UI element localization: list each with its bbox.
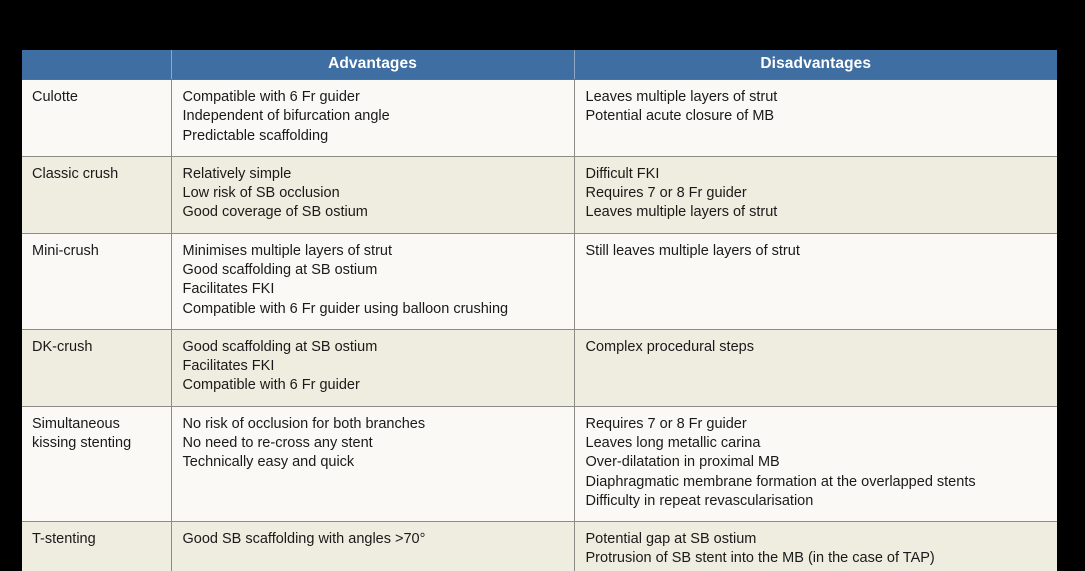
comparison-table-container: Advantages Disadvantages CulotteCompatib… (22, 50, 1057, 571)
disadvantage-item: Diaphragmatic membrane formation at the … (586, 473, 1048, 492)
advantage-item: Independent of bifurcation angle (183, 107, 564, 126)
advantages-list: Relatively simpleLow risk of SB occlusio… (183, 165, 564, 223)
advantages-list: Compatible with 6 Fr guiderIndependent o… (183, 88, 564, 146)
page-root: Advantages Disadvantages CulotteCompatib… (0, 0, 1085, 571)
disadvantage-item: Difficult FKI (586, 165, 1048, 184)
table-row: CulotteCompatible with 6 Fr guiderIndepe… (22, 80, 1057, 157)
advantage-item: No risk of occlusion for both branches (183, 415, 564, 434)
disadvantage-item: Potential acute closure of MB (586, 107, 1048, 126)
table-row: DK-crushGood scaffolding at SB ostiumFac… (22, 329, 1057, 406)
technique-name-line: Culotte (32, 88, 161, 107)
advantage-item: Good coverage of SB ostium (183, 203, 564, 222)
advantage-item: Relatively simple (183, 165, 564, 184)
disadvantages-list: Difficult FKIRequires 7 or 8 Fr guiderLe… (586, 165, 1048, 223)
technique-name-line: Mini-crush (32, 242, 161, 261)
advantage-item: Good scaffolding at SB ostium (183, 261, 564, 280)
technique-name-line: Classic crush (32, 165, 161, 184)
advantages-cell: Minimises multiple layers of strutGood s… (171, 233, 574, 329)
disadvantage-item: Potential gap at SB ostium (586, 530, 1048, 549)
disadvantages-cell: Difficult FKIRequires 7 or 8 Fr guiderLe… (574, 156, 1057, 233)
advantages-list: Minimises multiple layers of strutGood s… (183, 242, 564, 319)
advantage-item: Compatible with 6 Fr guider (183, 88, 564, 107)
advantages-cell: Good SB scaffolding with angles >70° (171, 522, 574, 571)
advantage-item: Facilitates FKI (183, 280, 564, 299)
table-body: CulotteCompatible with 6 Fr guiderIndepe… (22, 80, 1057, 571)
advantage-item: Low risk of SB occlusion (183, 184, 564, 203)
column-header-disadvantages: Disadvantages (574, 50, 1057, 80)
advantages-cell: Good scaffolding at SB ostiumFacilitates… (171, 329, 574, 406)
disadvantage-item: Leaves long metallic carina (586, 434, 1048, 453)
column-header-technique (22, 50, 171, 80)
technique-name-line: DK-crush (32, 338, 161, 357)
technique-name-line: T-stenting (32, 530, 161, 549)
advantage-item: Good SB scaffolding with angles >70° (183, 530, 564, 549)
advantage-item: Facilitates FKI (183, 357, 564, 376)
disadvantages-cell: Still leaves multiple layers of strut (574, 233, 1057, 329)
disadvantage-item: Still leaves multiple layers of strut (586, 242, 1048, 261)
column-header-advantages: Advantages (171, 50, 574, 80)
disadvantage-item: Requires 7 or 8 Fr guider (586, 415, 1048, 434)
disadvantages-list: Requires 7 or 8 Fr guiderLeaves long met… (586, 415, 1048, 511)
advantages-list: No risk of occlusion for both branchesNo… (183, 415, 564, 473)
technique-name-cell: Mini-crush (22, 233, 171, 329)
technique-name-cell: Culotte (22, 80, 171, 157)
table-row: Mini-crushMinimises multiple layers of s… (22, 233, 1057, 329)
advantage-item: Compatible with 6 Fr guider using balloo… (183, 300, 564, 319)
disadvantages-list: Complex procedural steps (586, 338, 1048, 357)
advantage-item: Predictable scaffolding (183, 127, 564, 146)
technique-name-line: Simultaneous (32, 415, 161, 434)
disadvantage-item: Over-dilatation in proximal MB (586, 453, 1048, 472)
disadvantages-cell: Potential gap at SB ostiumProtrusion of … (574, 522, 1057, 571)
disadvantage-item: Complex procedural steps (586, 338, 1048, 357)
disadvantages-cell: Complex procedural steps (574, 329, 1057, 406)
technique-name-line: kissing stenting (32, 434, 161, 453)
technique-name-cell: Simultaneouskissing stenting (22, 406, 171, 521)
disadvantage-item: Difficulty in repeat revascularisation (586, 492, 1048, 511)
advantage-item: Minimises multiple layers of strut (183, 242, 564, 261)
advantages-cell: Compatible with 6 Fr guiderIndependent o… (171, 80, 574, 157)
disadvantages-list: Potential gap at SB ostiumProtrusion of … (586, 530, 1048, 569)
advantages-list: Good scaffolding at SB ostiumFacilitates… (183, 338, 564, 396)
disadvantage-item: Leaves multiple layers of strut (586, 203, 1048, 222)
table-header: Advantages Disadvantages (22, 50, 1057, 80)
technique-name-cell: T-stenting (22, 522, 171, 571)
advantages-cell: Relatively simpleLow risk of SB occlusio… (171, 156, 574, 233)
disadvantage-item: Requires 7 or 8 Fr guider (586, 184, 1048, 203)
advantages-cell: No risk of occlusion for both branchesNo… (171, 406, 574, 521)
disadvantage-item: Protrusion of SB stent into the MB (in t… (586, 549, 1048, 568)
table-row: Classic crushRelatively simpleLow risk o… (22, 156, 1057, 233)
advantage-item: Technically easy and quick (183, 453, 564, 472)
technique-name-cell: DK-crush (22, 329, 171, 406)
advantage-item: Good scaffolding at SB ostium (183, 338, 564, 357)
table-header-row: Advantages Disadvantages (22, 50, 1057, 80)
advantages-list: Good SB scaffolding with angles >70° (183, 530, 564, 549)
disadvantages-cell: Requires 7 or 8 Fr guiderLeaves long met… (574, 406, 1057, 521)
advantage-item: No need to re-cross any stent (183, 434, 564, 453)
disadvantages-list: Leaves multiple layers of strutPotential… (586, 88, 1048, 127)
disadvantage-item: Leaves multiple layers of strut (586, 88, 1048, 107)
bifurcation-technique-comparison-table: Advantages Disadvantages CulotteCompatib… (22, 50, 1057, 571)
technique-name-cell: Classic crush (22, 156, 171, 233)
advantage-item: Compatible with 6 Fr guider (183, 376, 564, 395)
disadvantages-cell: Leaves multiple layers of strutPotential… (574, 80, 1057, 157)
disadvantages-list: Still leaves multiple layers of strut (586, 242, 1048, 261)
table-row: T-stentingGood SB scaffolding with angle… (22, 522, 1057, 571)
table-row: Simultaneouskissing stentingNo risk of o… (22, 406, 1057, 521)
